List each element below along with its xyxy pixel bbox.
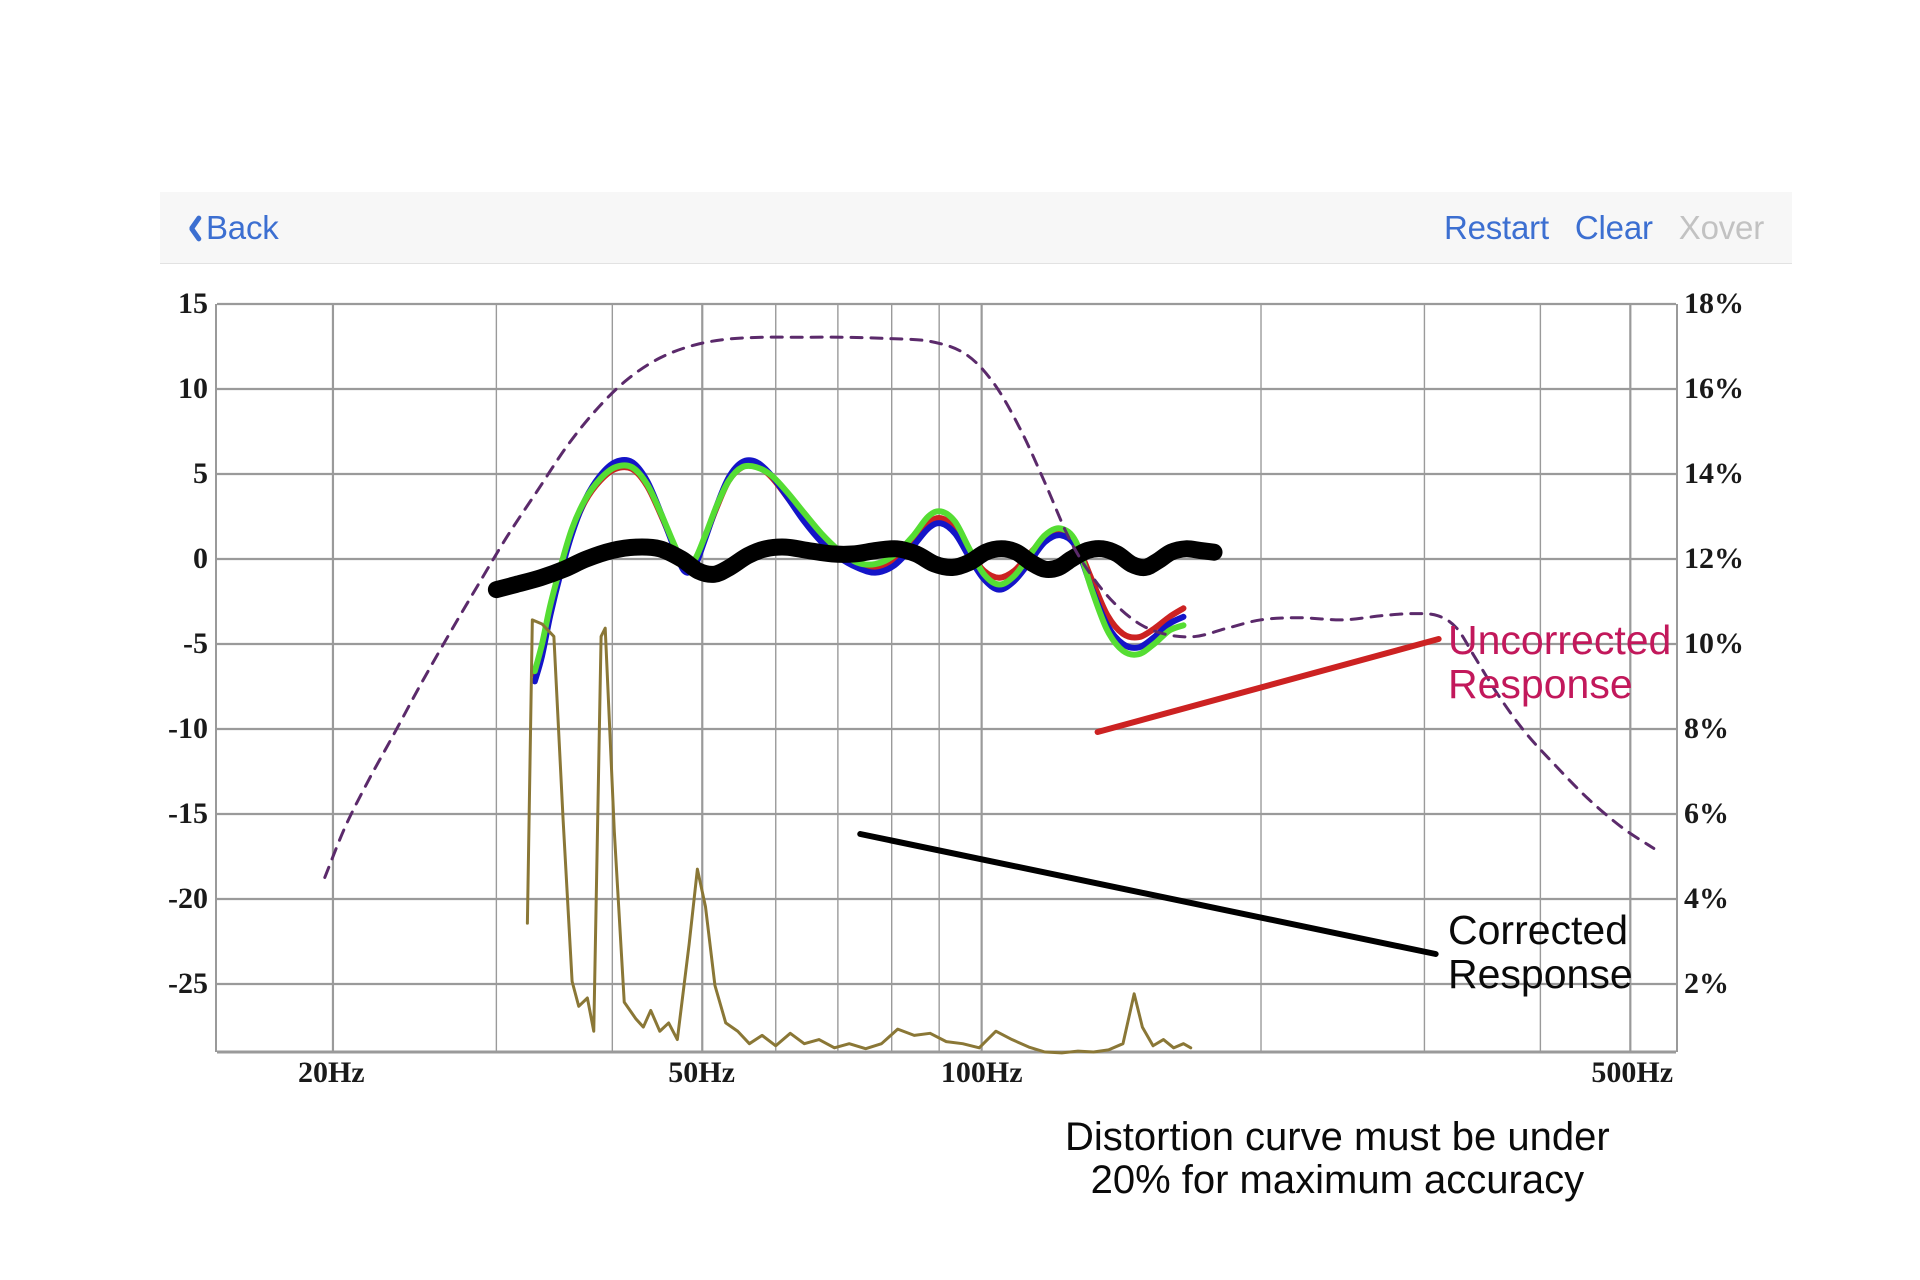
y-axis-left-labels: 151050-5-10-15-20-25 xyxy=(160,304,208,1052)
uncorrected-response-annotation: Uncorrected Response xyxy=(1448,619,1671,707)
y-axis-left-tick: -15 xyxy=(168,797,208,831)
y-axis-right-tick: 14% xyxy=(1684,457,1744,491)
nav-actions-group: Restart Clear Xover xyxy=(1444,209,1764,247)
y-axis-left-tick: 10 xyxy=(178,372,208,406)
back-button-label: Back xyxy=(206,209,279,247)
restart-button[interactable]: Restart xyxy=(1444,209,1549,247)
app-root: Back Restart Clear Xover 151050-5-10-15-… xyxy=(0,0,1920,1280)
corrected-leader xyxy=(860,834,1435,954)
y-axis-left-tick: -10 xyxy=(168,712,208,746)
y-axis-right-tick: 8% xyxy=(1684,712,1729,746)
chevron-left-icon xyxy=(182,213,199,243)
y-axis-right-tick: 10% xyxy=(1684,627,1744,661)
y-axis-left-tick: -20 xyxy=(168,882,208,916)
y-axis-left-tick: 5 xyxy=(193,457,208,491)
distortion-warning-annotation: Distortion curve must be under 20% for m… xyxy=(1065,1116,1610,1202)
y-axis-right-tick: 18% xyxy=(1684,287,1744,321)
corrected-response-annotation: Corrected Response xyxy=(1448,909,1633,997)
series-line xyxy=(325,337,1654,877)
y-axis-right-tick: 6% xyxy=(1684,797,1729,831)
y-axis-right-tick: 16% xyxy=(1684,372,1744,406)
x-axis-tick: 100Hz xyxy=(941,1056,1023,1090)
navigation-bar: Back Restart Clear Xover xyxy=(160,192,1792,264)
xover-button: Xover xyxy=(1679,209,1764,247)
y-axis-left-tick: -25 xyxy=(168,967,208,1001)
y-axis-right-tick: 4% xyxy=(1684,882,1729,916)
x-axis-labels: 20Hz50Hz100Hz500Hz xyxy=(215,1056,1678,1104)
x-axis-tick: 20Hz xyxy=(298,1056,365,1090)
frequency-response-chart: 151050-5-10-15-20-25 18%16%14%12%10%8%6%… xyxy=(160,264,1792,1084)
uncorrected-leader xyxy=(1098,639,1439,732)
y-axis-right-tick: 2% xyxy=(1684,967,1729,1001)
x-axis-tick: 500Hz xyxy=(1591,1056,1673,1090)
y-axis-left-tick: 15 xyxy=(178,287,208,321)
clear-button[interactable]: Clear xyxy=(1575,209,1653,247)
back-button[interactable]: Back xyxy=(182,209,279,247)
x-axis-tick: 50Hz xyxy=(668,1056,735,1090)
y-axis-left-tick: 0 xyxy=(193,542,208,576)
y-axis-right-labels: 18%16%14%12%10%8%6%4%2% xyxy=(1684,304,1794,1052)
y-axis-right-tick: 12% xyxy=(1684,542,1744,576)
y-axis-left-tick: -5 xyxy=(183,627,208,661)
